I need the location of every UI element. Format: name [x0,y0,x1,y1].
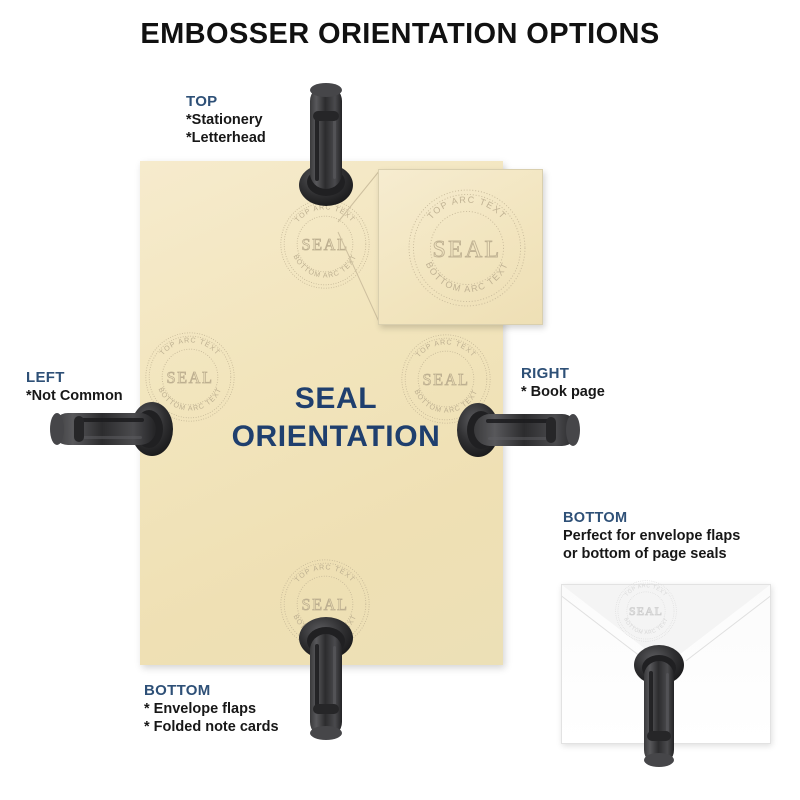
callout-top-line-1: *Stationery [186,112,266,130]
embosser-bottom[interactable] [296,612,356,742]
callout-bottom-heading: BOTTOM [144,682,279,701]
callout-envelope-heading: BOTTOM [563,510,740,528]
callout-bottom: BOTTOM * Envelope flaps * Folded note ca… [144,682,279,737]
magnified-seal-panel [378,169,543,325]
callout-envelope-line-1: Perfect for envelope flaps [563,528,740,546]
page-title: EMBOSSER ORIENTATION OPTIONS [0,18,800,51]
embosser-left[interactable] [48,399,178,459]
callout-envelope: BOTTOM Perfect for envelope flaps or bot… [563,510,740,564]
diagram-canvas: EMBOSSER ORIENTATION OPTIONS TOP ARC TEX… [0,0,800,800]
callout-right-heading: RIGHT [521,365,605,384]
callout-bottom-line-1: * Envelope flaps [144,701,279,719]
callout-right: RIGHT * Book page [521,365,605,402]
callout-top-line-2: *Letterhead [186,130,266,148]
seal-orientation-line1: SEAL [196,380,476,418]
callout-top-heading: TOP [186,93,266,112]
seal-orientation-line2: ORIENTATION [196,418,476,456]
callout-bottom-line-2: * Folded note cards [144,719,279,737]
embosser-envelope[interactable] [629,639,689,769]
callout-envelope-line-2: or bottom of page seals [563,546,740,564]
callout-right-line-1: * Book page [521,384,605,402]
callout-left-heading: LEFT [26,369,123,388]
callout-left: LEFT *Not Common [26,369,123,406]
callout-top: TOP *Stationery *Letterhead [186,93,266,148]
embosser-top[interactable] [296,81,356,211]
seal-orientation-label: SEAL ORIENTATION [196,380,476,457]
callout-left-line-1: *Not Common [26,388,123,406]
